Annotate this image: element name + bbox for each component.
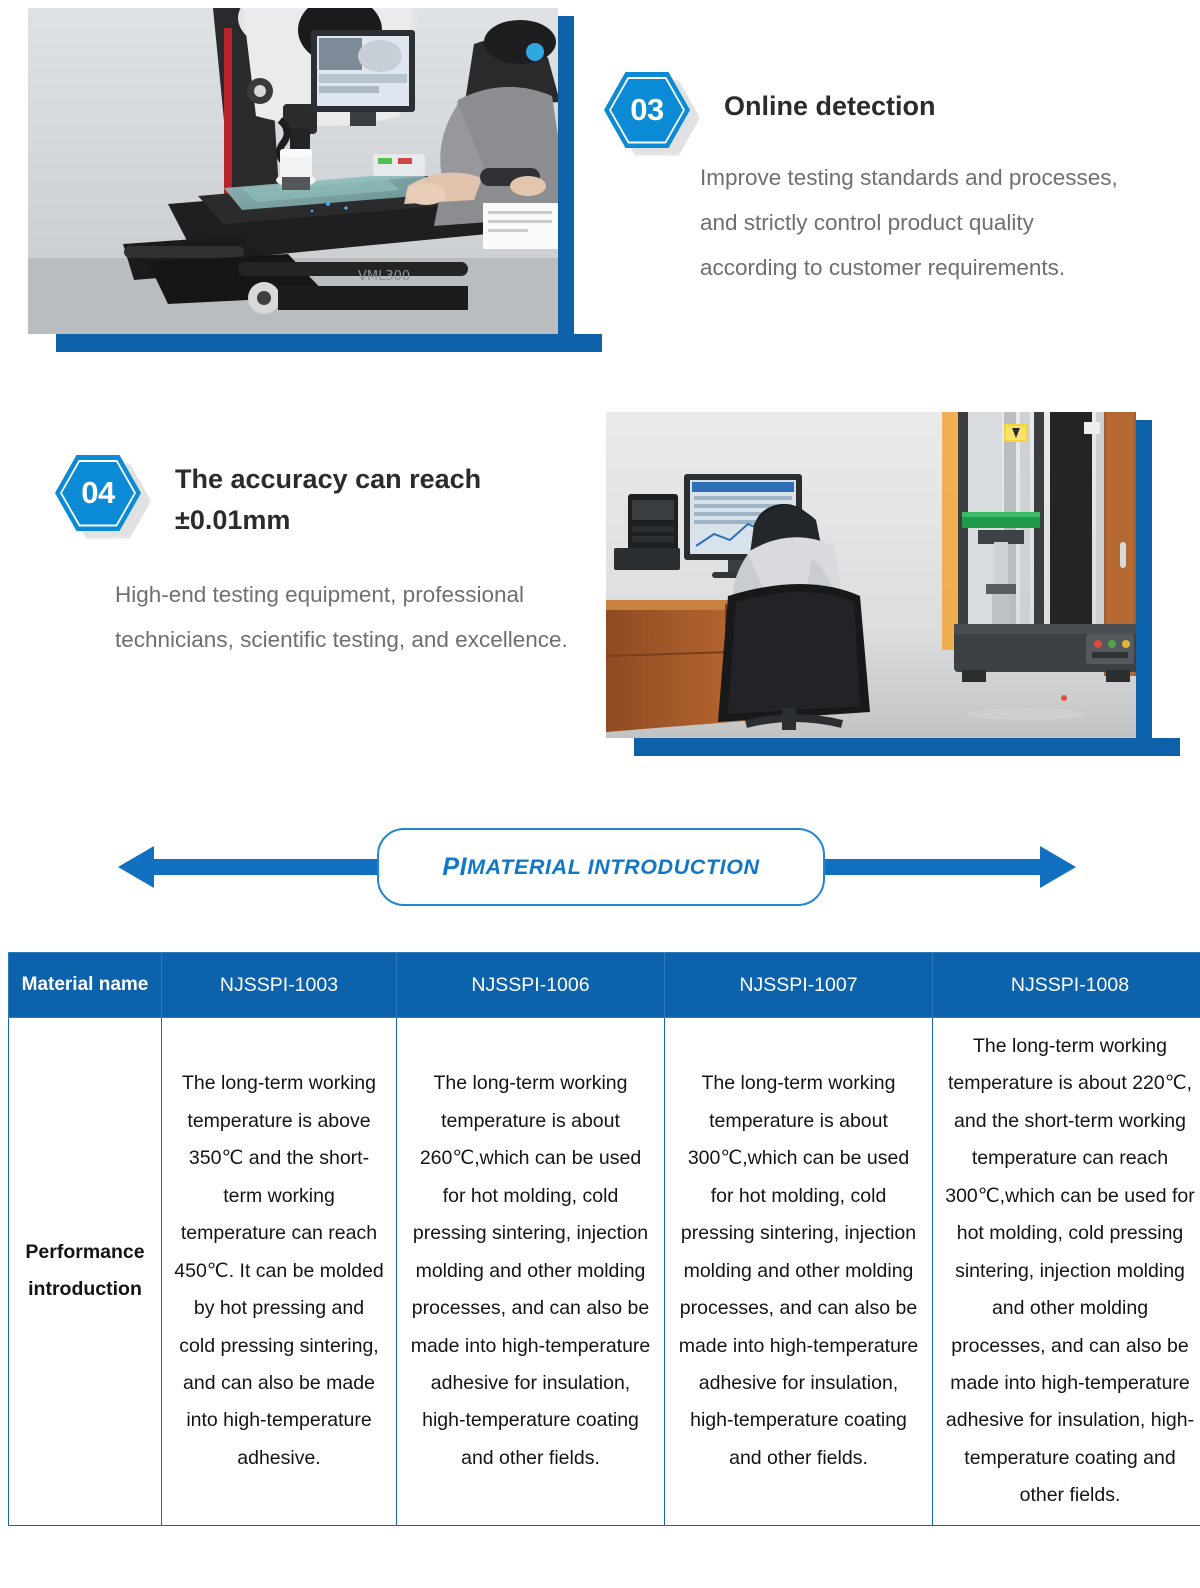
online-detection-photo: VML300 (28, 8, 558, 334)
section-03-heading-row: 03 Online detection (604, 72, 936, 148)
photo-accent-bottom-bar (634, 738, 1180, 756)
table-header-njsspi-1006: NJSSPI-1006 (397, 953, 665, 1018)
cell-njsspi-1007-performance: The long-term working temperature is abo… (665, 1018, 933, 1526)
hexagon-number-label: 03 (604, 72, 690, 148)
table-header-njsspi-1007: NJSSPI-1007 (665, 953, 933, 1018)
section-04-title: The accuracy can reach ±0.01mm (175, 459, 575, 541)
section-04-body-text: High-end testing equipment, professional… (115, 572, 585, 662)
photo-accent-right-bar (1136, 420, 1152, 738)
accuracy-photo-frame (606, 412, 1152, 756)
hexagon-number-badge-icon: 03 (604, 72, 690, 148)
table-header-row: Material name NJSSPI-1003 NJSSPI-1006 NJ… (9, 953, 1200, 1018)
pi-banner-label: PI MATERIAL INTRODUCTION (376, 826, 826, 908)
accuracy-testing-photo (606, 412, 1136, 738)
table-row: Performance introduction The long-term w… (9, 1018, 1200, 1526)
row-label-performance-introduction: Performance introduction (9, 1018, 162, 1526)
pi-banner-label-rest: MATERIAL INTRODUCTION (467, 855, 759, 880)
hexagon-number-badge-icon: 04 (55, 455, 141, 531)
table-body: Performance introduction The long-term w… (9, 1018, 1200, 1526)
section-04-heading-row: 04 The accuracy can reach ±0.01mm (55, 455, 575, 541)
pi-material-table: Material name NJSSPI-1003 NJSSPI-1006 NJ… (8, 952, 1200, 1526)
section-03-body-text: Improve testing standards and processes,… (700, 155, 1130, 290)
pi-material-introduction-banner: PI MATERIAL INTRODUCTION (118, 826, 1076, 908)
table-header: Material name NJSSPI-1003 NJSSPI-1006 NJ… (9, 953, 1200, 1018)
photo-accent-right-bar (558, 16, 574, 334)
online-detection-photo-frame: VML300 (28, 8, 574, 352)
cell-njsspi-1008-performance: The long-term working temperature is abo… (933, 1018, 1200, 1526)
cell-njsspi-1003-performance: The long-term working temperature is abo… (162, 1018, 397, 1526)
table-header-njsspi-1008: NJSSPI-1008 (933, 953, 1200, 1018)
cell-njsspi-1006-performance: The long-term working temperature is abo… (397, 1018, 665, 1526)
photo-accent-bottom-bar (56, 334, 602, 352)
table-header-material-name: Material name (9, 953, 162, 1018)
section-03-title: Online detection (724, 86, 936, 127)
svg-text:VML300: VML300 (358, 269, 410, 284)
hexagon-number-label: 04 (55, 455, 141, 531)
table-header-njsspi-1003: NJSSPI-1003 (162, 953, 397, 1018)
pi-banner-label-lead: PI (442, 853, 467, 882)
